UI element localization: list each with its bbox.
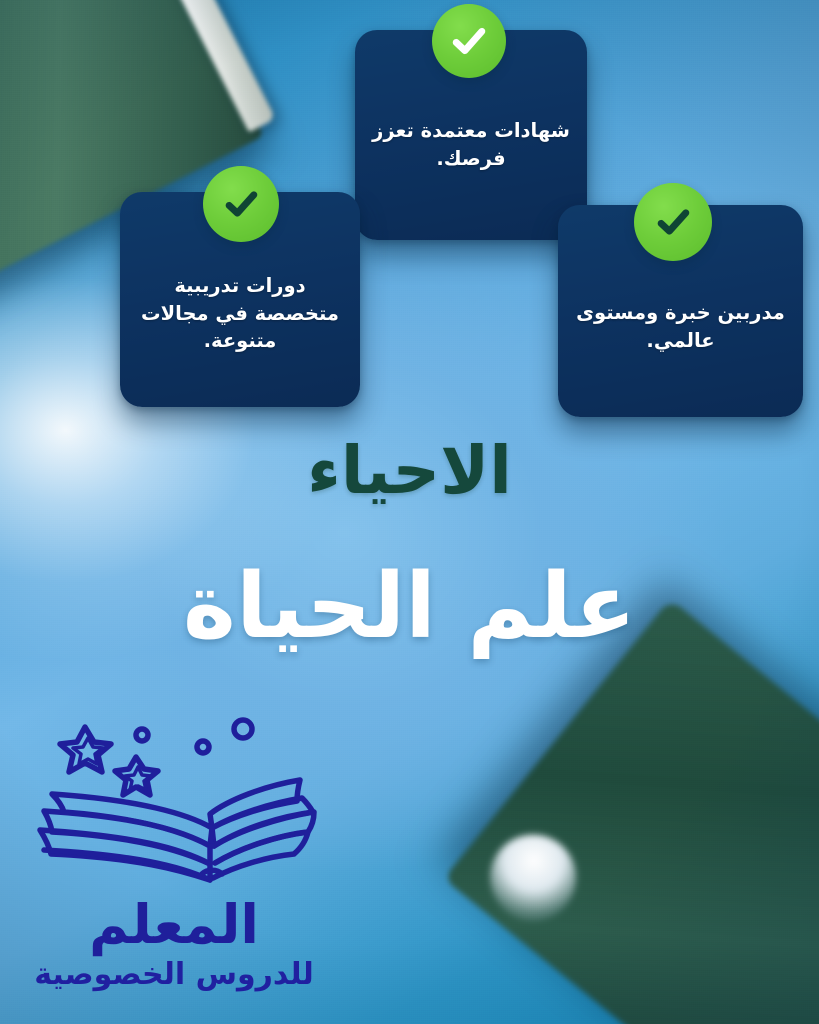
logo-name: المعلم [14,898,334,952]
feature-card-label: شهادات معتمدة تعزز فرصك. [355,117,587,172]
feature-card-group: شهادات معتمدة تعزز فرصك. دورات تدريبية م… [0,0,819,430]
feature-card-label: دورات تدريبية متخصصة في مجالات متنوعة. [120,272,360,355]
poster-canvas: شهادات معتمدة تعزز فرصك. دورات تدريبية م… [0,0,819,1024]
heading-block: الاحياء علم الحياة [0,438,819,652]
feature-card-label: مدربين خبرة ومستوى عالمي. [558,299,803,354]
open-book-with-stars-icon [14,708,334,908]
logo-tagline: للدروس الخصوصية [14,960,334,990]
subject-title: الاحياء [0,438,819,504]
check-circle-icon [203,166,279,242]
check-circle-icon [634,183,712,261]
brand-logo[interactable]: المعلم للدروس الخصوصية [14,708,334,1024]
tagline-title: علم الحياة [0,562,819,652]
check-circle-icon [432,4,506,78]
